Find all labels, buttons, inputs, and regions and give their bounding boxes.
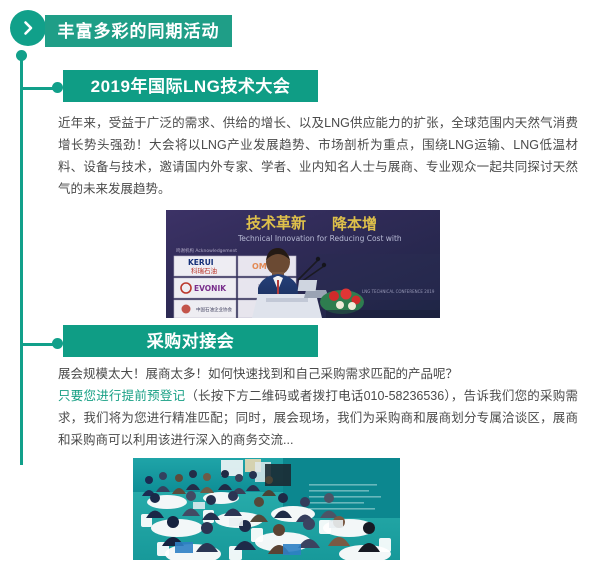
section-header-title: 丰富多彩的同期活动 <box>58 23 220 40</box>
svg-text:KERUI: KERUI <box>188 258 214 267</box>
timeline-vertical-line <box>20 55 23 465</box>
section-header-badge: 丰富多彩的同期活动 <box>45 15 232 47</box>
lng-conference-speaker-photo: 技术革新 降本增 Technical Innovation for Reduci… <box>166 210 440 318</box>
timeline-rail <box>0 0 70 571</box>
svg-text:科瑞石油: 科瑞石油 <box>191 266 217 275</box>
svg-text:技术革新: 技术革新 <box>246 214 306 232</box>
svg-text:鸣谢机构 Acknowledgement: 鸣谢机构 Acknowledgement <box>176 247 237 254</box>
svg-text:Technical Innovation for Reduc: Technical Innovation for Reducing Cost w… <box>237 234 402 243</box>
procurement-matchmaking-photo <box>133 458 400 560</box>
svg-text:LNG TECHNICAL CONFERENCE 2019: LNG TECHNICAL CONFERENCE 2019 <box>362 289 435 294</box>
chevron-right-circle-icon[interactable] <box>10 10 46 46</box>
body-text: 展会规模太大！展商太多！如何快速找到和自己采购需求匹配的产品呢？ <box>58 367 458 381</box>
svg-text:EVONIK: EVONIK <box>194 284 227 293</box>
svg-text:降本增: 降本增 <box>332 215 377 233</box>
timeline-node-2 <box>52 338 63 349</box>
section-title-label: 2019年国际LNG技术大会 <box>91 78 291 95</box>
timeline-branch-2 <box>22 343 55 346</box>
section-body-procurement-matchmaking: 展会规模太大！展商太多！如何快速找到和自己采购需求匹配的产品呢？只要您进行提前预… <box>58 363 578 451</box>
section-header: 丰富多彩的同期活动 <box>0 0 600 56</box>
svg-text:中国石油企业协会: 中国石油企业协会 <box>196 306 232 313</box>
section-title-procurement-matchmaking: 采购对接会 <box>63 325 318 357</box>
timeline-branch-1 <box>22 87 55 90</box>
section-title-lng-tech-conference: 2019年国际LNG技术大会 <box>63 70 318 102</box>
section-body-lng-tech-conference: 近年来，受益于广泛的需求、供给的增长、以及LNG供应能力的扩张，全球范围内天然气… <box>58 112 578 200</box>
svg-text:OM: OM <box>252 262 267 271</box>
timeline-node-1 <box>52 82 63 93</box>
section-title-label: 采购对接会 <box>147 333 235 350</box>
highlighted-text[interactable]: 只要您进行提前预登记 <box>58 389 185 403</box>
body-text: 近年来，受益于广泛的需求、供给的增长、以及LNG供应能力的扩张，全球范围内天然气… <box>58 116 578 196</box>
